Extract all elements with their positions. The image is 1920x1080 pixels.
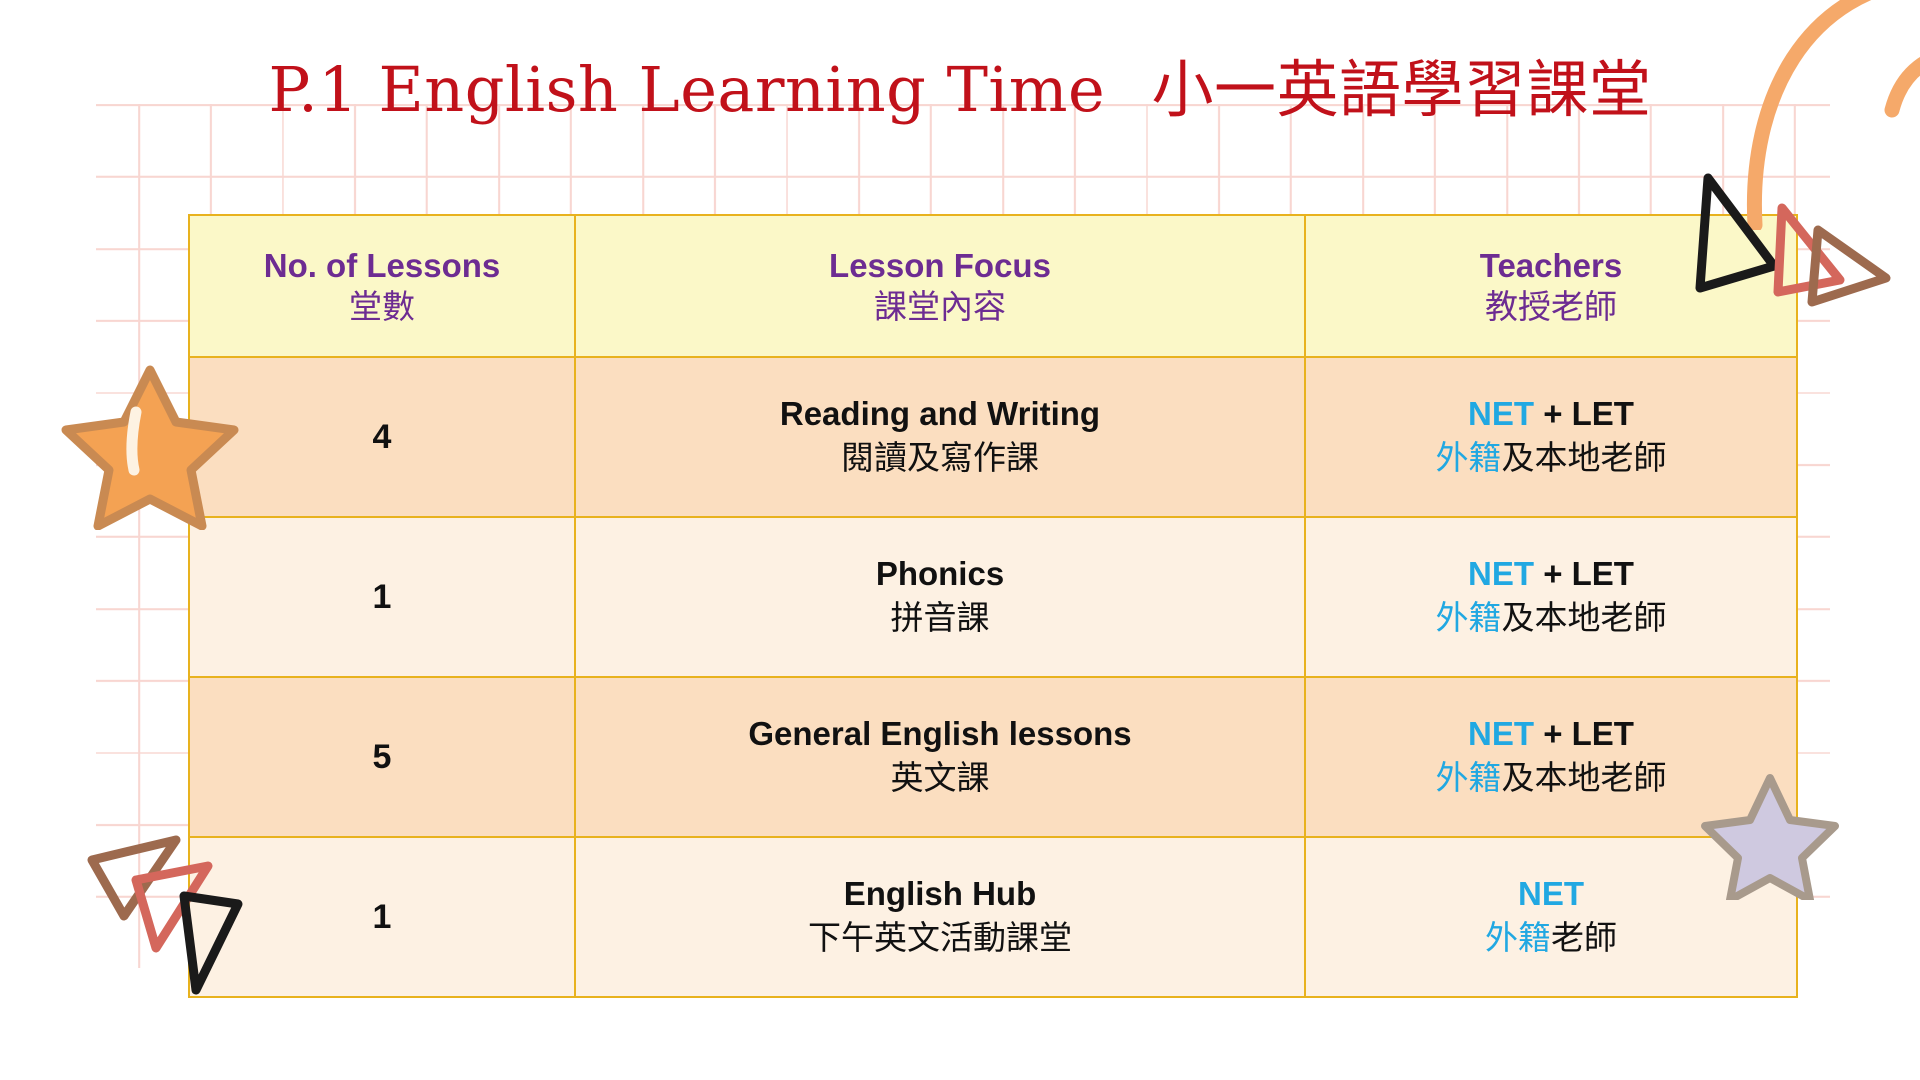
cell-lesson-focus: General English lessons 英文課 <box>575 677 1305 837</box>
cell-lessons-count: 1 <box>189 837 575 997</box>
cell-teachers: NET 外籍老師 <box>1305 837 1797 997</box>
lesson-focus-en: Reading and Writing <box>580 393 1300 435</box>
teacher-net-label: NET <box>1468 395 1534 432</box>
teacher-let-label: LET <box>1572 715 1634 752</box>
table-row: 1 Phonics 拼音課 NET + LET 外籍及本地老師 <box>189 517 1797 677</box>
column-header-teachers-en: Teachers <box>1480 247 1622 284</box>
lesson-schedule-table-wrapper: No. of Lessons 堂數 Lesson Focus 課堂內容 Teac… <box>188 214 1796 998</box>
column-header-lessons: No. of Lessons 堂數 <box>189 215 575 357</box>
cell-lessons-count: 4 <box>189 357 575 517</box>
column-header-lessons-zh: 堂數 <box>194 286 570 328</box>
teacher-en: NET + LET <box>1310 553 1792 595</box>
column-header-focus: Lesson Focus 課堂內容 <box>575 215 1305 357</box>
lesson-focus-en: General English lessons <box>580 713 1300 755</box>
teacher-en: NET <box>1310 873 1792 915</box>
lesson-focus-zh: 英文課 <box>580 755 1300 801</box>
teacher-zh-blue: 外籍 <box>1436 758 1502 797</box>
column-header-lessons-en: No. of Lessons <box>264 247 501 284</box>
teacher-let-label: LET <box>1572 395 1634 432</box>
column-header-focus-zh: 課堂內容 <box>580 286 1300 328</box>
teacher-join: + <box>1534 555 1572 592</box>
cell-lessons-count: 1 <box>189 517 575 677</box>
lesson-schedule-table: No. of Lessons 堂數 Lesson Focus 課堂內容 Teac… <box>188 214 1798 998</box>
teacher-net-label: NET <box>1468 555 1534 592</box>
teacher-zh: 外籍及本地老師 <box>1310 755 1792 801</box>
teacher-zh-rest: 及本地老師 <box>1502 758 1667 797</box>
cell-lesson-focus: Phonics 拼音課 <box>575 517 1305 677</box>
teacher-join: + <box>1534 395 1572 432</box>
teacher-zh-rest: 及本地老師 <box>1502 438 1667 477</box>
lesson-focus-zh: 拼音課 <box>580 595 1300 641</box>
column-header-teachers-zh: 教授老師 <box>1310 286 1792 328</box>
teacher-net-label: NET <box>1468 715 1534 752</box>
cell-teachers: NET + LET 外籍及本地老師 <box>1305 517 1797 677</box>
teacher-zh: 外籍及本地老師 <box>1310 595 1792 641</box>
grid-mask-left <box>0 0 96 1080</box>
cell-lesson-focus: English Hub 下午英文活動課堂 <box>575 837 1305 997</box>
teacher-let-label: LET <box>1572 555 1634 592</box>
column-header-teachers: Teachers 教授老師 <box>1305 215 1797 357</box>
teacher-zh-blue: 外籍 <box>1485 918 1551 957</box>
table-row: 1 English Hub 下午英文活動課堂 NET 外籍老師 <box>189 837 1797 997</box>
page-title: P.1 English Learning Time 小一英語學習課堂 <box>0 52 1920 128</box>
lesson-focus-en: Phonics <box>580 553 1300 595</box>
teacher-join: + <box>1534 715 1572 752</box>
teacher-net-label: NET <box>1518 875 1584 912</box>
grid-mask-right <box>1830 0 1920 1080</box>
teacher-zh-blue: 外籍 <box>1436 438 1502 477</box>
cell-teachers: NET + LET 外籍及本地老師 <box>1305 357 1797 517</box>
teacher-zh-rest: 及本地老師 <box>1502 598 1667 637</box>
teacher-zh-blue: 外籍 <box>1436 598 1502 637</box>
title-chinese: 小一英語學習課堂 <box>1151 53 1651 126</box>
title-english: P.1 English Learning Time <box>269 53 1106 126</box>
lesson-focus-zh: 下午英文活動課堂 <box>580 915 1300 961</box>
table-row: 5 General English lessons 英文課 NET + LET … <box>189 677 1797 837</box>
cell-teachers: NET + LET 外籍及本地老師 <box>1305 677 1797 837</box>
cell-lesson-focus: Reading and Writing 閱讀及寫作課 <box>575 357 1305 517</box>
lesson-focus-zh: 閱讀及寫作課 <box>580 435 1300 481</box>
teacher-zh: 外籍老師 <box>1310 915 1792 961</box>
table-header-row: No. of Lessons 堂數 Lesson Focus 課堂內容 Teac… <box>189 215 1797 357</box>
lesson-focus-en: English Hub <box>580 873 1300 915</box>
teacher-en: NET + LET <box>1310 713 1792 755</box>
column-header-focus-en: Lesson Focus <box>829 247 1051 284</box>
teacher-en: NET + LET <box>1310 393 1792 435</box>
teacher-zh-rest: 老師 <box>1551 918 1617 957</box>
cell-lessons-count: 5 <box>189 677 575 837</box>
teacher-zh: 外籍及本地老師 <box>1310 435 1792 481</box>
table-row: 4 Reading and Writing 閱讀及寫作課 NET + LET 外… <box>189 357 1797 517</box>
